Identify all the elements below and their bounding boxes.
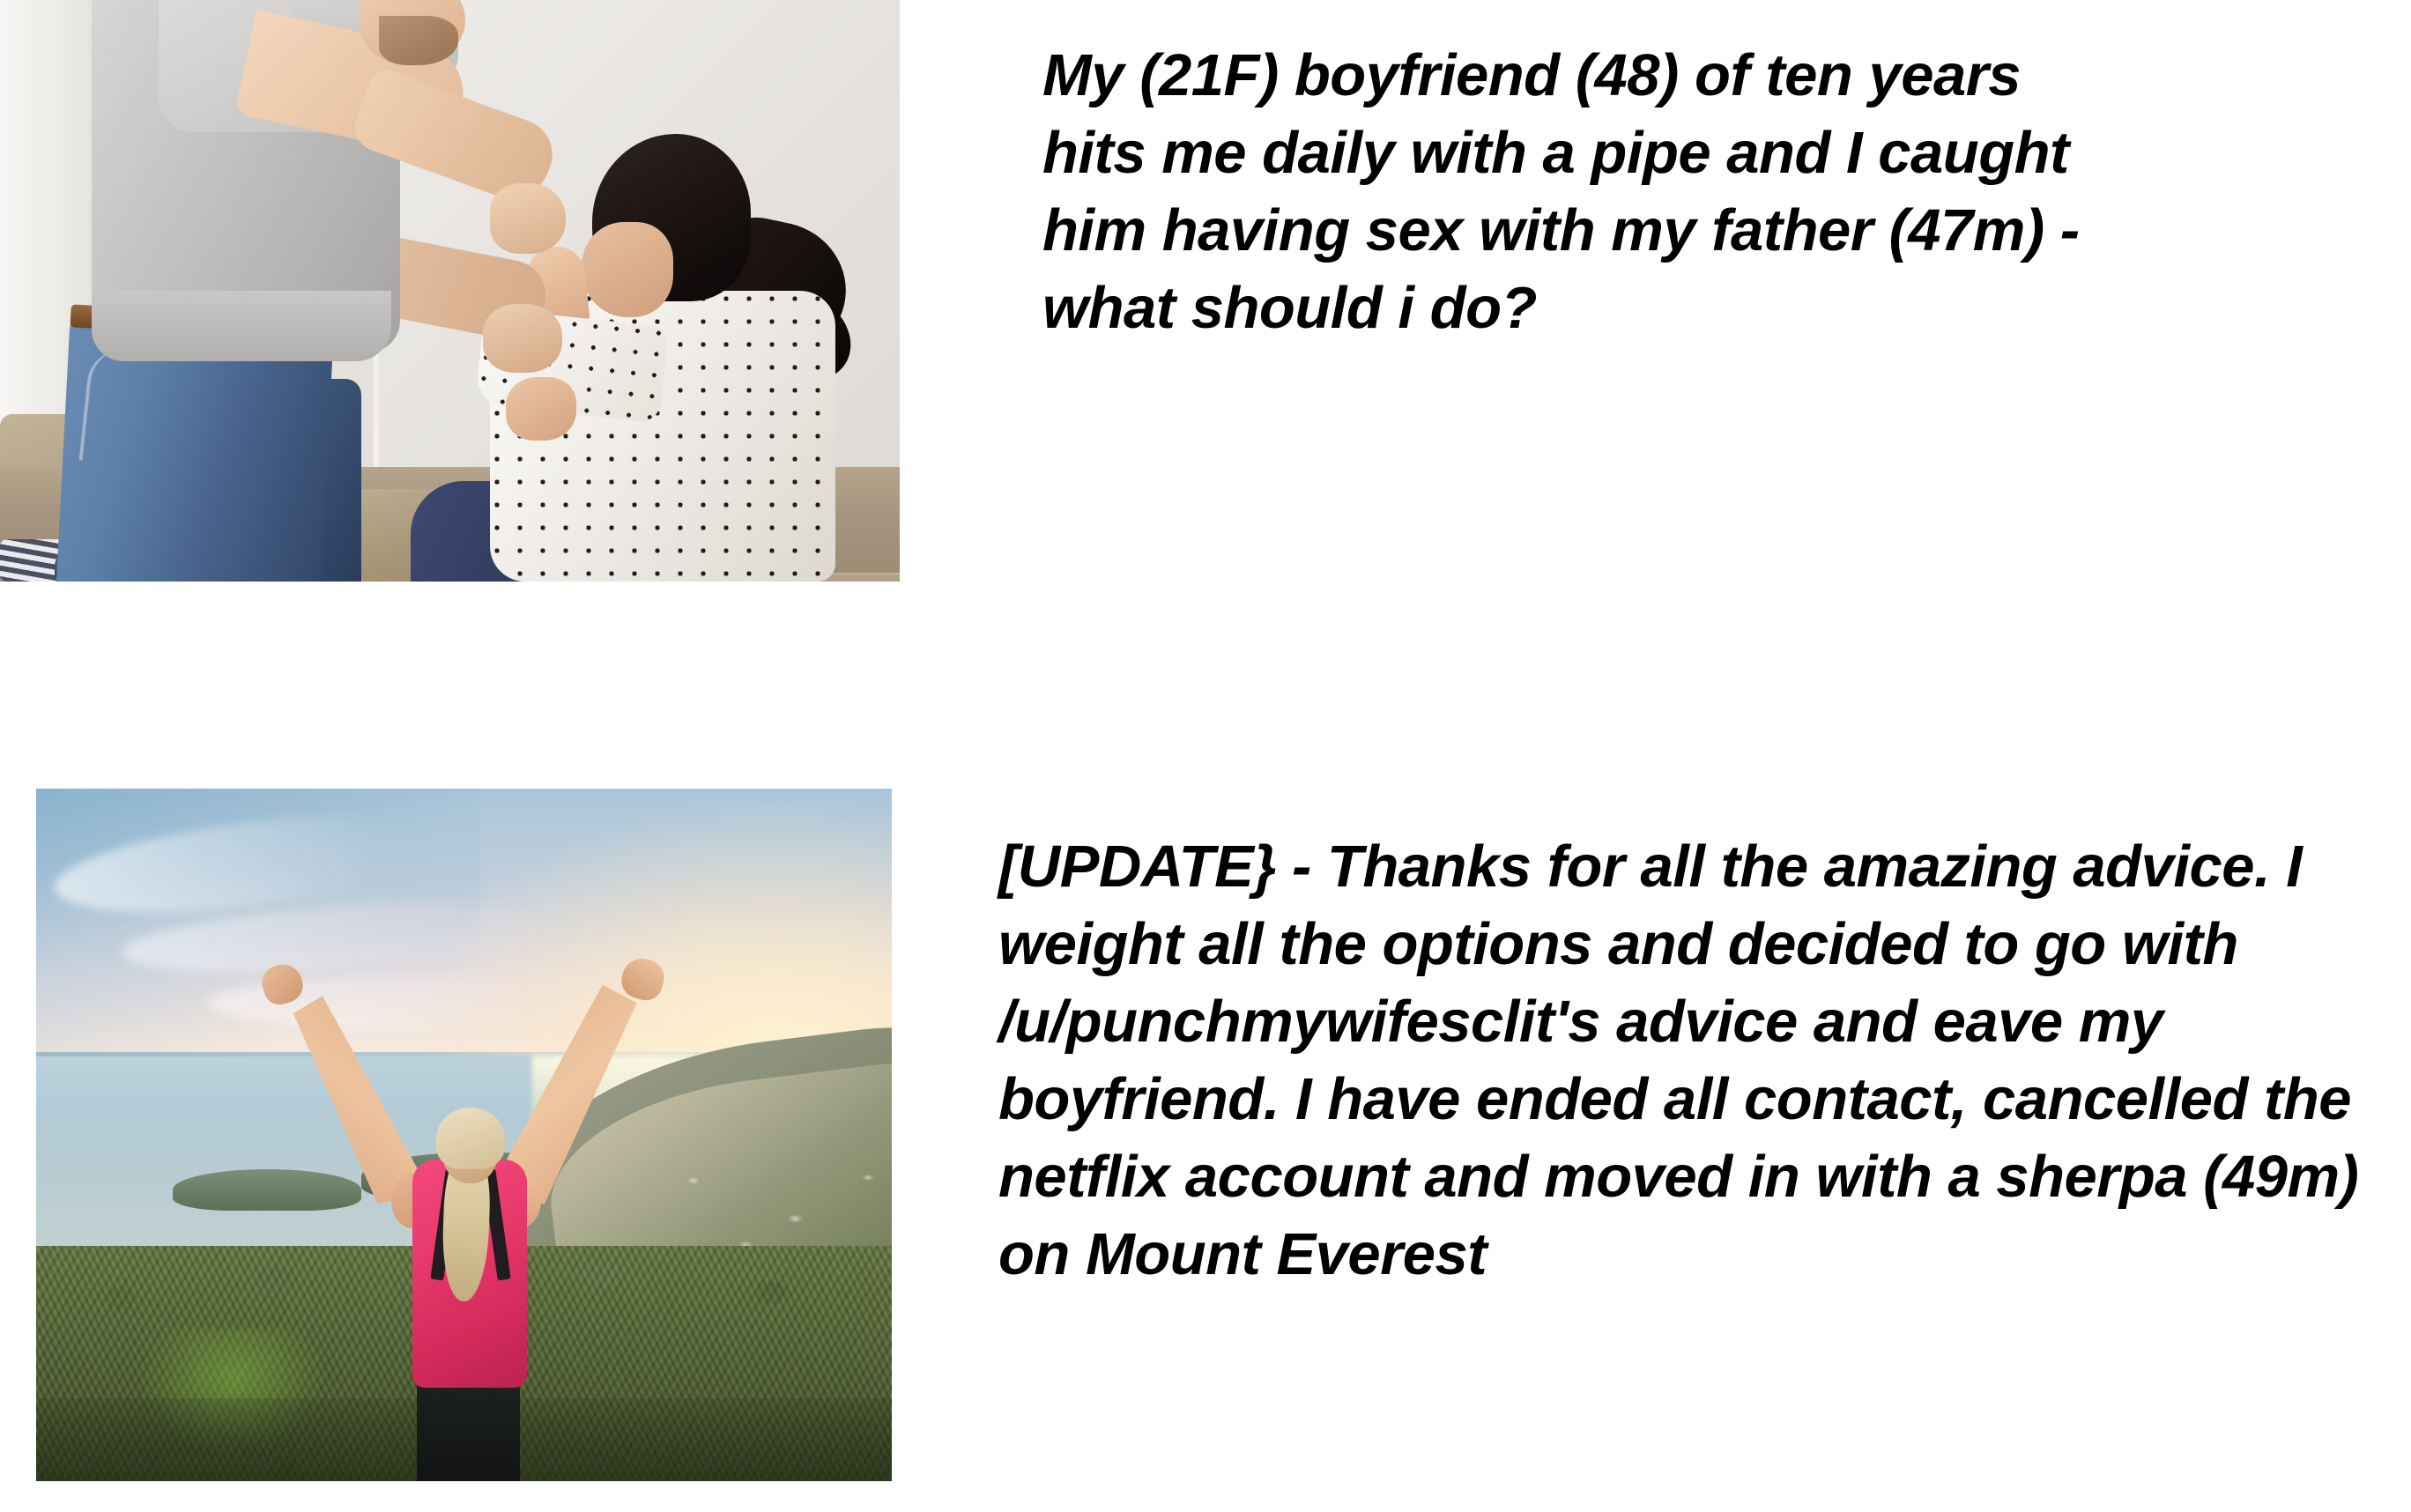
woman-hand bbox=[506, 377, 576, 441]
small-island bbox=[173, 1169, 361, 1211]
tshirt-hem bbox=[92, 291, 391, 361]
domestic-abuse-photo bbox=[0, 0, 900, 582]
woman-face bbox=[582, 222, 673, 317]
panel-top-caption: My (21F) boyfriend (48) of ten years hit… bbox=[1042, 37, 2135, 347]
jeans-pocket-seam bbox=[78, 346, 178, 470]
man-raised-fist bbox=[490, 183, 566, 254]
man-beard bbox=[379, 16, 458, 65]
panel-bottom-caption: [UPDATE} - Thanks for all the amazing ad… bbox=[998, 828, 2382, 1293]
man-gripping-hand bbox=[483, 304, 562, 373]
woman-hair bbox=[436, 1108, 505, 1170]
sunset-celebration-photo bbox=[36, 789, 892, 1481]
